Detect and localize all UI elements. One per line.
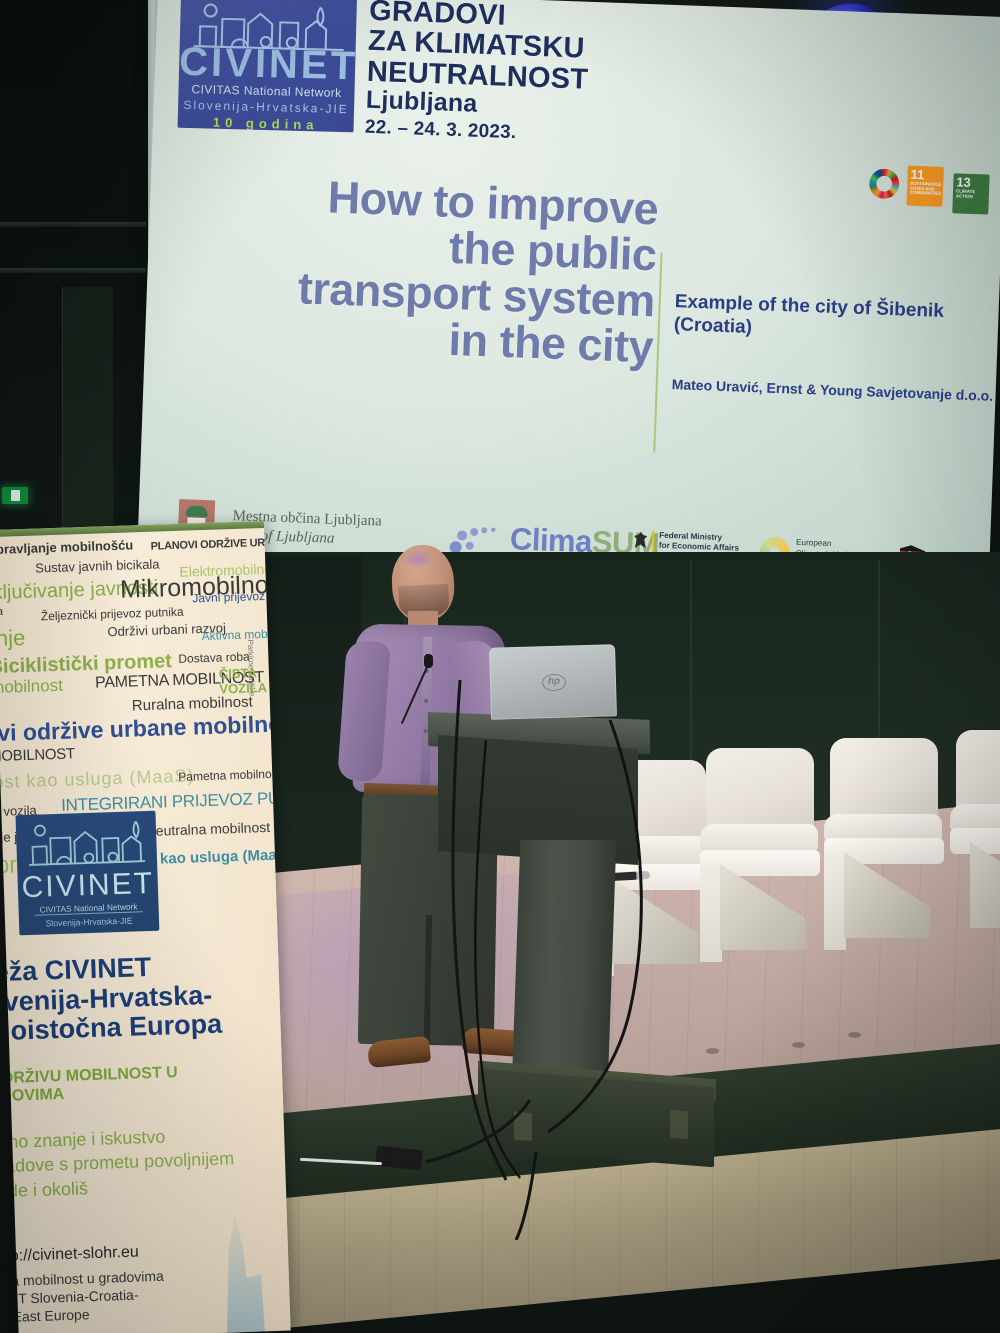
- banner-url[interactable]: http://civinet-slohr.eu: [0, 1240, 242, 1266]
- banner-heading: Mreža CIVINET Slovenija-Hrvatska- Jugois…: [0, 951, 223, 1049]
- conference-stage-photo: CIVINET CIVITAS National Network Sloveni…: [0, 0, 1000, 1333]
- civinet-event-logo: CIVINET CIVITAS National Network Sloveni…: [178, 0, 357, 132]
- chair-leg: [700, 870, 722, 962]
- wordcloud-term: Upravljanje mobilnošću: [0, 537, 133, 557]
- slide-author: Mateo Uravić, Ernst & Young Savjetovanje…: [671, 375, 1000, 405]
- banner-subheading: ZA ODRŽIVU MOBILNOST U GRADOVIMA: [0, 1062, 235, 1107]
- wordcloud-term: Dostava roba: [178, 650, 250, 666]
- slide-subtitle: Example of the city of Šibenik (Croatia): [673, 291, 1000, 349]
- banner-heading-line-3: Jugoistočna Europa: [0, 1010, 223, 1048]
- chair-backrest: [830, 738, 938, 822]
- slide-main-title: How to improve the public transport syst…: [183, 169, 659, 370]
- banner-footer: Održiva mobilnost u gradovima CIVINET Sl…: [0, 1264, 242, 1327]
- wall-rail: [0, 222, 146, 227]
- chair-backrest: [706, 748, 814, 832]
- sdg-13-text: CLIMATE ACTION: [956, 189, 986, 199]
- rollup-banner: Upravljanje mobilnošću PLANOVI ODRŽIVE U…: [0, 521, 291, 1333]
- slide-subtitle-block: Example of the city of Šibenik (Croatia)…: [671, 291, 1000, 405]
- wordcloud-term: Javni prijevoz: [192, 589, 265, 605]
- head-light-reflection: [402, 548, 433, 570]
- wordcloud-term: Punjenje: [0, 625, 26, 654]
- floor-bolt: [792, 1042, 805, 1048]
- side-door: [62, 287, 113, 549]
- presenter-shoe: [367, 1036, 431, 1068]
- wordcloud-term: INTEGRIRANI PRIJEVOZ PUTNIKA (IPP): [61, 786, 291, 816]
- wordcloud-term: Sustav javnih bicikala: [35, 556, 160, 575]
- event-dates: 22. – 24. 3. 2023.: [365, 117, 587, 145]
- wordcloud-term: MIKROMOBILNOST: [0, 745, 75, 766]
- chair-armrest: [700, 824, 818, 852]
- projection-screen: CIVINET CIVITAS National Network Sloveni…: [136, 0, 1000, 607]
- sdg-wheel-icon: [869, 168, 900, 199]
- wordcloud-term: Mobilnost kao usluga (MaaS): [0, 765, 195, 795]
- banner-logo-region: Slovenija-Hrvatska-JIE: [19, 915, 159, 930]
- sdg-11-number: 11: [910, 168, 940, 182]
- sdg-goal-11-icon: 11 SUSTAINABLE CITIES AND COMMUNITIES: [906, 166, 943, 207]
- banner-civinet-logo: CIVINET CIVITAS National Network Sloveni…: [15, 811, 159, 936]
- banner-logo-name: CIVINET: [17, 867, 158, 906]
- banner-body: Dijelimo znanje i iskustvo za gradove s …: [0, 1122, 236, 1204]
- german-eagle-icon: [634, 532, 648, 548]
- civinet-logo-anniversary: 10 godina: [178, 114, 354, 133]
- chair-backrest: [956, 730, 1000, 814]
- microphone-head-icon: [424, 654, 433, 668]
- sdg-13-number: 13: [956, 175, 986, 189]
- wordcloud-term: Pametna mobilnost: [178, 767, 281, 784]
- wordcloud-term: ČISTA VOZILA: [219, 665, 264, 696]
- exit-sign-icon: [2, 487, 28, 504]
- wall-rail: [0, 268, 146, 273]
- lectern-foot: [670, 1110, 688, 1139]
- floor-bolt: [706, 1048, 719, 1054]
- hp-logo-icon: hp: [542, 674, 566, 692]
- trouser-leg-split: [424, 915, 432, 1045]
- banner-word-cloud: Upravljanje mobilnošću PLANOVI ODRŽIVE U…: [0, 531, 280, 782]
- wordcloud-term: Čista vozila: [0, 606, 3, 620]
- civinet-cityscape-icon: [16, 815, 158, 876]
- lectern-foot: [514, 1112, 532, 1141]
- wordcloud-term: Elektromobilnost: [0, 676, 63, 700]
- event-title: GRADOVI ZA KLIMATSKU NEUTRALNOST Ljublja…: [365, 0, 591, 145]
- shirt-button: [424, 699, 428, 703]
- lectern-column: [512, 840, 617, 1090]
- sdg-goal-13-icon: 13 CLIMATE ACTION: [952, 173, 989, 214]
- floor-bolt: [848, 1032, 861, 1038]
- laptop[interactable]: hp: [489, 644, 617, 719]
- sdg-11-text: SUSTAINABLE CITIES AND COMMUNITIES: [910, 182, 940, 197]
- chair-leg: [824, 858, 846, 950]
